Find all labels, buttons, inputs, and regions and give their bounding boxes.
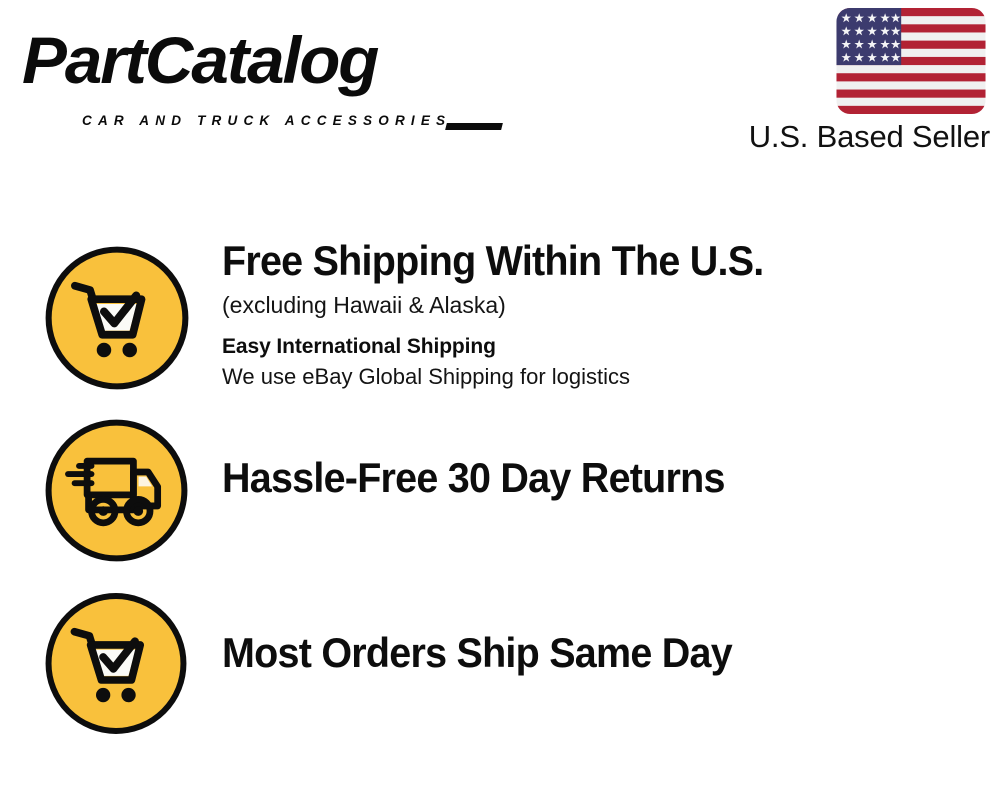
feature-title: Most Orders Ship Same Day [222,628,944,678]
us-based-seller-label: U.S. Based Seller [700,118,990,156]
brand-tagline: CAR AND TRUCK ACCESSORIES [82,113,451,128]
feature-title: Hassle-Free 30 Day Returns [222,453,944,503]
delivery-truck-icon [43,417,190,564]
shopping-cart-check-icon [43,244,191,392]
feature-note: (excluding Hawaii & Alaska) [222,290,990,320]
us-based-seller-block: U.S. Based Seller [700,8,990,156]
feature-sub-note: We use eBay Global Shipping for logistic… [222,363,990,391]
feature-row: Hassle-Free 30 Day Returns [0,405,1000,580]
brand-logo: PartCatalog CAR AND TRUCK ACCESSORIES [22,24,492,114]
feature-sub-title: Easy International Shipping [222,334,990,360]
brand-wordmark: PartCatalog [22,24,377,96]
brand-underline-accent [445,123,503,130]
feature-row: Free Shipping Within The U.S. (excluding… [0,230,1000,410]
feature-text-group: Hassle-Free 30 Day Returns [222,453,990,503]
feature-text-group: Most Orders Ship Same Day [222,628,990,678]
feature-text-group: Free Shipping Within The U.S. (excluding… [222,236,990,391]
shopping-cart-check-icon [43,590,189,737]
us-flag-icon [836,8,986,114]
feature-row: Most Orders Ship Same Day [0,578,1000,753]
feature-title: Free Shipping Within The U.S. [222,236,944,286]
promo-banner: PartCatalog CAR AND TRUCK ACCESSORIES [0,0,1000,800]
